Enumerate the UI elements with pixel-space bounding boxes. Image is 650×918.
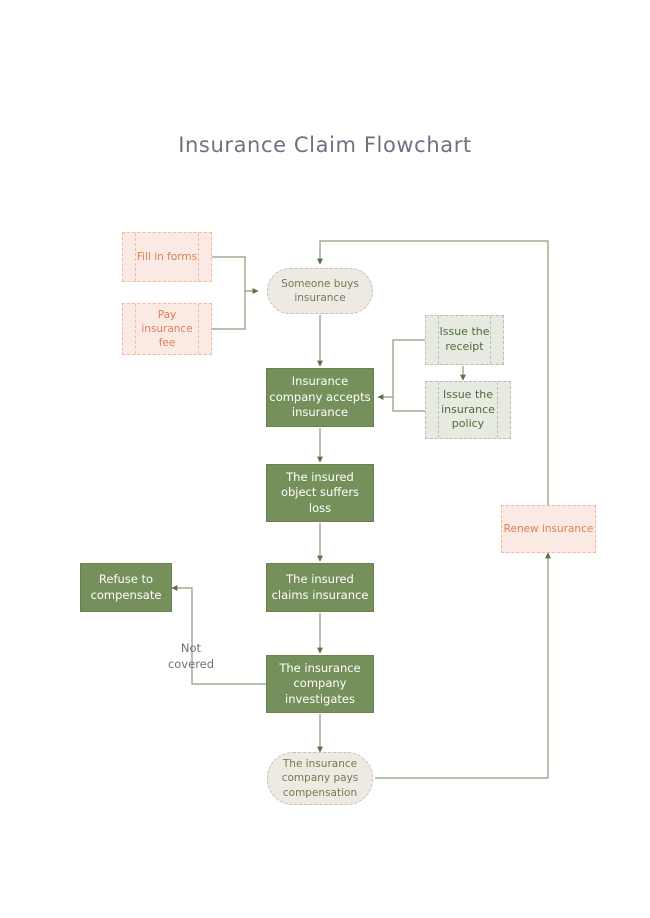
node-insurance-company-pays-compensation[interactable]: The insurance company pays compensation	[267, 752, 373, 805]
node-renew-insurance[interactable]: Renew insurance	[501, 505, 596, 553]
node-pay-insurance-fee[interactable]: Pay insurance fee	[122, 303, 212, 355]
page-title: Insurance Claim Flowchart	[0, 133, 650, 157]
edge-label-not-covered: Not covered	[148, 641, 234, 672]
node-label: Refuse to compensate	[91, 572, 162, 603]
node-label: Pay insurance fee	[141, 308, 192, 351]
node-label: The insured object suffers loss	[281, 470, 359, 517]
node-label: The insurance company investigates	[279, 661, 360, 708]
flowchart-canvas: Insurance Claim Flowchart	[0, 0, 650, 918]
node-issue-the-insurance-policy[interactable]: Issue the insurance policy	[425, 381, 511, 439]
node-insurance-company-investigates[interactable]: The insurance company investigates	[266, 655, 374, 713]
edge-pays-compensation-to-renew-insurance	[375, 553, 548, 778]
node-someone-buys-insurance[interactable]: Someone buys insurance	[267, 268, 373, 314]
node-label: Issue the receipt	[440, 325, 490, 355]
edge-issue-policy-to-company-accepts	[393, 397, 425, 411]
node-issue-the-receipt[interactable]: Issue the receipt	[425, 315, 504, 365]
node-label: Fill in forms	[137, 250, 197, 264]
edge-pay-fee-to-someone-buys	[212, 291, 245, 329]
node-label: Someone buys insurance	[281, 277, 359, 305]
node-label: Issue the insurance policy	[441, 388, 495, 433]
node-label: The insurance company pays compensation	[282, 757, 359, 800]
node-refuse-to-compensate[interactable]: Refuse to compensate	[80, 563, 172, 612]
node-insured-object-suffers-loss[interactable]: The insured object suffers loss	[266, 464, 374, 522]
node-insured-claims-insurance[interactable]: The insured claims insurance	[266, 563, 374, 612]
node-label: The insured claims insurance	[272, 572, 369, 603]
node-insurance-company-accepts-insurance[interactable]: Insurance company accepts insurance	[266, 368, 374, 427]
edge-fill-in-forms-to-someone-buys	[212, 257, 258, 291]
node-label: Renew insurance	[504, 522, 594, 536]
node-fill-in-forms[interactable]: Fill in forms	[122, 232, 212, 282]
node-label: Insurance company accepts insurance	[269, 374, 370, 421]
edge-issue-receipt-to-company-accepts	[378, 340, 425, 397]
